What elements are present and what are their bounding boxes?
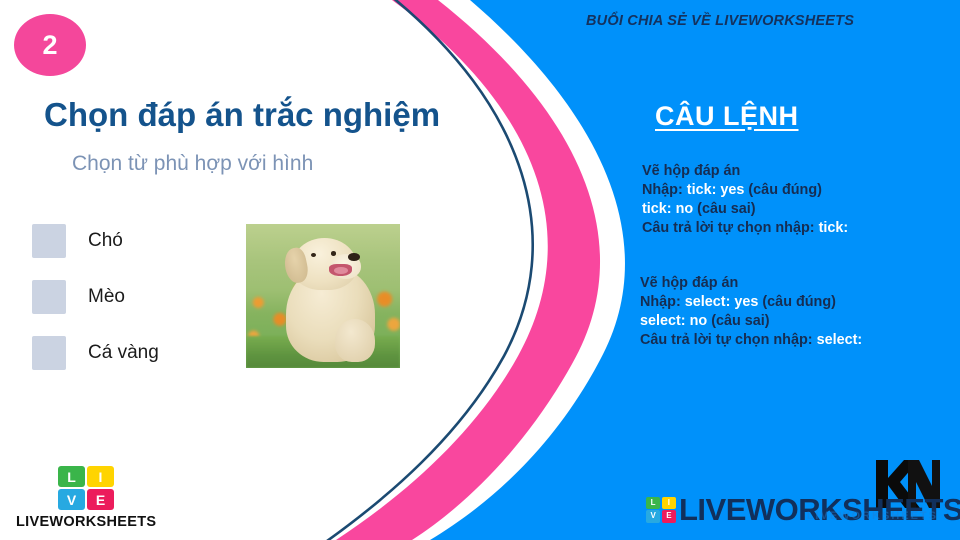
dog-eye-right bbox=[331, 251, 336, 255]
checkbox-icon[interactable] bbox=[32, 280, 66, 314]
header-title: BUỔI CHIA SẺ VỀ LIVEWORKSHEETS bbox=[586, 13, 946, 29]
commands-heading-text: CÂU LỆNH bbox=[655, 101, 799, 131]
footer-logo-tiles: L I V E bbox=[646, 497, 676, 523]
puppy-photo bbox=[244, 222, 402, 370]
logo-tile-l: L bbox=[58, 466, 85, 487]
checkbox-icon[interactable] bbox=[32, 336, 66, 370]
option-label: Chó bbox=[88, 230, 123, 252]
slide-number-badge: 2 bbox=[14, 14, 86, 76]
slide-canvas: 2 Chọn đáp án trắc nghiệm Chọn từ phù hợ… bbox=[0, 0, 960, 540]
option-label: Mèo bbox=[88, 286, 125, 308]
liveworksheets-logo-wordmark: LIVEWORKSHEETS bbox=[16, 514, 156, 530]
footer-watermark-text: LIVEWORKSHEETS bbox=[807, 510, 938, 522]
tick-line-4: Câu trả lời tự chọn nhập: tick: bbox=[642, 219, 848, 238]
commands-heading: CÂU LỆNH bbox=[655, 101, 895, 132]
select-line-1: Vẽ hộp đáp án bbox=[640, 274, 862, 293]
tick-command-block: Vẽ hộp đáp án Nhập: tick: yes (câu đúng)… bbox=[642, 162, 848, 238]
select-command-block: Vẽ hộp đáp án Nhập: select: yes (câu đún… bbox=[640, 274, 862, 350]
option-label: Cá vàng bbox=[88, 342, 159, 364]
logo-tile-i: I bbox=[87, 466, 114, 487]
list-item[interactable]: Cá vàng bbox=[32, 336, 159, 370]
tick-line-2: Nhập: tick: yes (câu đúng) bbox=[642, 181, 848, 200]
answer-options-list: Chó Mèo Cá vàng bbox=[32, 224, 159, 392]
page-title: Chọn đáp án trắc nghiệm bbox=[44, 96, 524, 134]
logo-tile-v: V bbox=[58, 489, 85, 510]
tick-line-1: Vẽ hộp đáp án bbox=[642, 162, 848, 181]
list-item[interactable]: Mèo bbox=[32, 280, 159, 314]
slide-number-text: 2 bbox=[42, 32, 57, 59]
liveworksheets-logo-tiles: L I V E bbox=[58, 466, 114, 510]
select-line-3: select: no (câu sai) bbox=[640, 312, 862, 331]
logo-tile-e: E bbox=[87, 489, 114, 510]
checkbox-icon[interactable] bbox=[32, 224, 66, 258]
tick-line-3: tick: no (câu sai) bbox=[642, 200, 848, 219]
list-item[interactable]: Chó bbox=[32, 224, 159, 258]
select-line-4: Câu trả lời tự chọn nhập: select: bbox=[640, 331, 862, 350]
select-line-2: Nhập: select: yes (câu đúng) bbox=[640, 293, 862, 312]
footer-branding: L I V E LIVEWORKSHEETS LIVEWORKSHEETS bbox=[640, 470, 960, 530]
liveworksheets-logo: L I V E LIVEWORKSHEETS bbox=[16, 466, 156, 530]
footer-tile-e: E bbox=[662, 510, 676, 522]
page-subtitle: Chọn từ phù hợp với hình bbox=[72, 152, 512, 176]
footer-tile-i: I bbox=[662, 497, 676, 509]
footer-tile-l: L bbox=[646, 497, 660, 509]
footer-tile-v: V bbox=[646, 510, 660, 522]
dog-leg-shape bbox=[335, 319, 375, 362]
puppy-photo-inner bbox=[246, 224, 400, 368]
